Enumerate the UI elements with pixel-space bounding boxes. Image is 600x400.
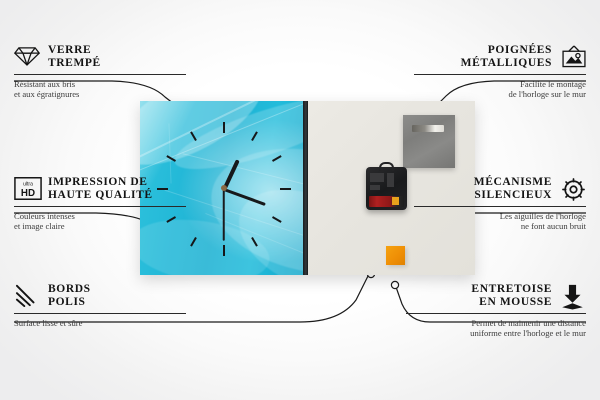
- gear-icon: [560, 176, 586, 202]
- feature-title: VERRE TREMPÉ: [48, 44, 101, 70]
- diamond-icon: [14, 44, 40, 70]
- feature-description: Facilite le montage de l'horloge sur le …: [414, 79, 586, 100]
- feature-mecanisme-silencieux: MÉCANISME SILENCIEUX Les aiguilles de l'…: [414, 176, 586, 232]
- divider: [14, 74, 186, 75]
- feature-title: ENTRETOISE EN MOUSSE: [471, 283, 552, 309]
- divider: [406, 313, 586, 314]
- battery-terminal: [392, 197, 399, 205]
- feature-verre-trempe: VERRE TREMPÉ Résistant aux bris et aux é…: [14, 44, 186, 100]
- svg-text:HD: HD: [21, 188, 35, 199]
- feature-entretoise-mousse: ENTRETOISE EN MOUSSE Permet de maintenir…: [406, 283, 586, 339]
- hanging-frame-icon: [560, 44, 586, 70]
- clock-second-hand: [223, 189, 225, 241]
- mechanism-battery: [369, 196, 404, 207]
- feature-bords-polis: BORDS POLIS Surface lisse et sûre: [14, 283, 186, 328]
- clock-tick: [223, 245, 225, 256]
- hanger-slot: [412, 125, 444, 132]
- divider: [414, 206, 586, 207]
- feature-title: BORDS POLIS: [48, 283, 91, 309]
- feature-title: POIGNÉES MÉTALLIQUES: [461, 44, 552, 70]
- clock-tick: [223, 122, 225, 133]
- quartz-mechanism: [366, 167, 407, 210]
- feature-description: Permet de maintenir une distance uniform…: [406, 318, 586, 339]
- divider: [414, 74, 586, 75]
- mechanism-hook: [379, 162, 394, 171]
- down-arrow-layer-icon: [560, 283, 586, 309]
- feature-description: Couleurs intenses et image claire: [14, 211, 186, 232]
- ultra-hd-icon: ultra HD: [14, 176, 40, 202]
- foam-spacer: [386, 246, 405, 265]
- feature-title: MÉCANISME SILENCIEUX: [474, 176, 552, 202]
- metal-hanger-plate: [403, 115, 455, 168]
- feature-description: Surface lisse et sûre: [14, 318, 186, 328]
- clock-tick: [280, 188, 291, 190]
- feature-impression-hd: ultra HD IMPRESSION DE HAUTE QUALITÉ Cou…: [14, 176, 186, 232]
- divider: [14, 313, 186, 314]
- callout-dot-entretoise: [391, 281, 398, 288]
- feature-poignees-metalliques: POIGNÉES MÉTALLIQUES Facilite le montage…: [414, 44, 586, 100]
- polished-edges-icon: [14, 283, 40, 309]
- feature-description: Résistant aux bris et aux égratignures: [14, 79, 186, 100]
- feature-description: Les aiguilles de l'horloge ne font aucun…: [414, 211, 586, 232]
- svg-text:ultra: ultra: [23, 182, 33, 188]
- clock-center-cap: [221, 185, 227, 191]
- divider: [14, 206, 186, 207]
- infographic-canvas: VERRE TREMPÉ Résistant aux bris et aux é…: [0, 0, 600, 400]
- feature-title: IMPRESSION DE HAUTE QUALITÉ: [48, 176, 153, 202]
